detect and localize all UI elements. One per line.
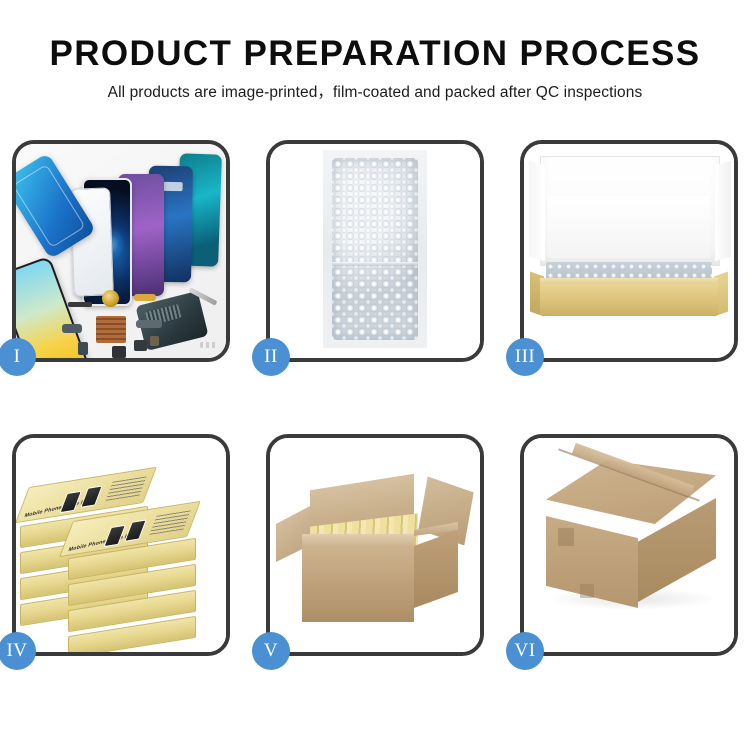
earpiece-icon <box>112 346 126 358</box>
box-art-screen-icon <box>124 519 147 542</box>
carton-front-face <box>302 546 414 622</box>
camera-module-icon <box>134 340 147 351</box>
step-badge-6: VI <box>506 632 544 670</box>
step-image-2 <box>270 144 480 358</box>
step-panel-4: Mobile Phone Spare Parts Mobile Phone Sp… <box>12 434 230 656</box>
step-image-5 <box>270 438 480 652</box>
bubble-pattern-overlay-icon <box>332 158 418 340</box>
bubble-wrap-sheet <box>323 150 427 348</box>
page-title: PRODUCT PREPARATION PROCESS <box>0 34 750 74</box>
step-image-4: Mobile Phone Spare Parts Mobile Phone Sp… <box>16 438 226 652</box>
step-badge-2: II <box>252 338 290 376</box>
box-spec-lines <box>149 510 190 535</box>
wrapped-product <box>332 158 418 340</box>
flex-cable-gold-icon <box>134 294 156 301</box>
step-badge-5: V <box>252 632 290 670</box>
adhesive-roll-icon <box>102 290 119 307</box>
carton-tab <box>558 528 574 546</box>
box-stack: Mobile Phone Spare Parts Mobile Phone Sp… <box>20 456 226 646</box>
step-panel-6: VI <box>520 434 738 656</box>
carton-tab <box>580 584 594 598</box>
wrap-seam <box>332 262 418 266</box>
box-spec-lines <box>105 476 146 501</box>
box-art-screen-icon <box>80 485 103 508</box>
step-panel-3: III <box>520 140 738 362</box>
step-panel-2: II <box>266 140 484 362</box>
speaker-mesh-icon <box>68 302 92 307</box>
page-subtitle: All products are image-printed，film-coat… <box>0 82 750 104</box>
step-badge-4: IV <box>0 632 36 670</box>
power-button-flex-icon <box>62 324 82 333</box>
step-image-6 <box>524 438 734 652</box>
screws-icon <box>200 342 216 348</box>
step-badge-1: I <box>0 338 36 376</box>
screw-tray-icon <box>96 316 126 343</box>
step-image-1 <box>16 144 226 358</box>
inner-box-front-face <box>540 284 718 316</box>
foam-sheet <box>548 196 710 258</box>
step-panel-1: I <box>12 140 230 362</box>
step-badge-3: III <box>506 338 544 376</box>
flex-cable-icon <box>136 320 162 328</box>
sim-tray-icon <box>78 342 88 355</box>
process-step-grid: I II III <box>12 140 738 656</box>
header: PRODUCT PREPARATION PROCESS All products… <box>0 0 750 104</box>
step-panel-5: V <box>266 434 484 656</box>
step-image-3 <box>524 144 734 358</box>
vibrator-icon <box>150 336 159 346</box>
